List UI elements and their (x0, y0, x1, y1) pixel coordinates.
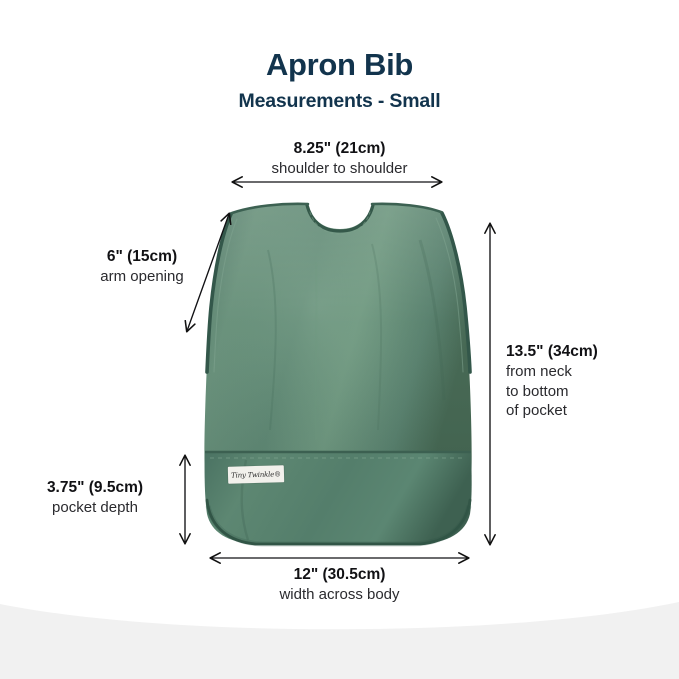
measurement-arm-opening: 6" (15cm) arm opening (52, 247, 232, 287)
measurement-width-across-body: 12" (30.5cm) width across body (0, 565, 679, 605)
apron-bib-illustration (204, 204, 471, 544)
measurement-value: 13.5" (34cm) (506, 342, 676, 362)
measurement-neck-to-pocket: 13.5" (34cm) from neck to bottom of pock… (506, 342, 676, 421)
fabric-crease-3 (315, 262, 316, 440)
measurement-description-line3: of pocket (506, 401, 676, 421)
measurement-shoulder-to-shoulder: 8.25" (21cm) shoulder to shoulder (0, 139, 679, 179)
measurement-diagram-page: Apron Bib Measurements - Small (0, 0, 679, 679)
measurement-description-line1: from neck (506, 362, 676, 382)
measurement-description: shoulder to shoulder (0, 159, 679, 179)
brand-tag-label: Tiny Twinkle® (231, 470, 281, 479)
measurement-value: 12" (30.5cm) (0, 565, 679, 585)
measurement-pocket-depth: 3.75" (9.5cm) pocket depth (10, 478, 180, 518)
measurement-value: 3.75" (9.5cm) (10, 478, 180, 498)
measurement-description: width across body (0, 585, 679, 605)
measurement-value: 8.25" (21cm) (0, 139, 679, 159)
footer-band (0, 602, 679, 679)
measurement-description-line2: to bottom (506, 382, 676, 402)
measurement-description: pocket depth (10, 498, 180, 518)
brand-tag: Tiny Twinkle® (228, 465, 284, 483)
measurement-value: 6" (15cm) (52, 247, 232, 267)
measurement-description: arm opening (52, 267, 232, 287)
